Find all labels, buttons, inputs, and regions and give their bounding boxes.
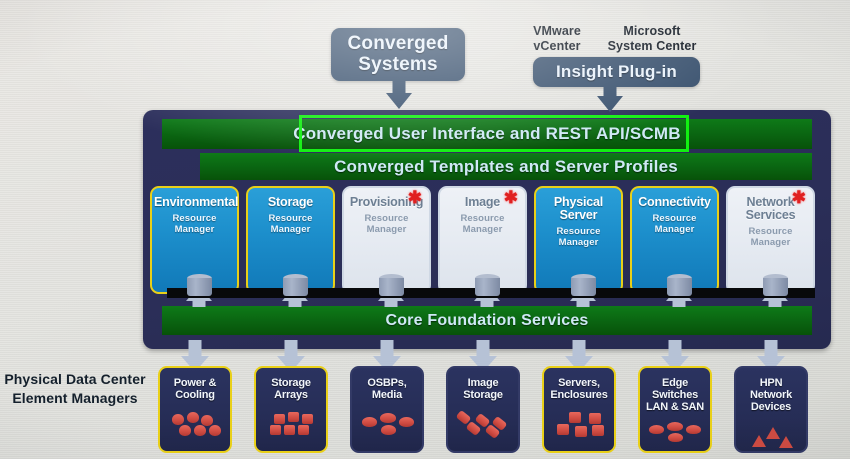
element-manager-storage-arrays[interactable]: Storage Arrays [254, 366, 328, 453]
rm-title-line2: Server [560, 208, 598, 222]
em-line1: Power & [174, 377, 217, 389]
em-title: Edge Switches LAN & SAN [640, 377, 710, 415]
bus-connector-icon [187, 274, 212, 296]
power-cooling-icon [160, 412, 230, 442]
rm-sub-line2: Manager [463, 224, 503, 235]
em-line2: Cooling [175, 389, 215, 401]
rm-subtitle: Resource Manager [536, 226, 621, 249]
arrow-stem [393, 78, 406, 94]
em-line2: Enclosures [550, 389, 607, 401]
converged-templates-bar[interactable]: Converged Templates and Server Profiles [200, 153, 812, 180]
element-manager-power-cooling[interactable]: Power & Cooling [158, 366, 232, 453]
rm-sub-line1: Resource [460, 213, 504, 224]
em-line3: Devices [751, 401, 791, 413]
bus-connector-icon [571, 274, 596, 296]
bus-connector-icon [667, 274, 692, 296]
asterisk-icon: ✱ [792, 189, 806, 206]
arrow-head [597, 96, 623, 112]
em-line2: Storage [463, 389, 503, 401]
rm-subtitle: Resource Manager [632, 213, 717, 236]
left-label-line2: Element Managers [12, 390, 137, 406]
bus-connector-icon [475, 274, 500, 296]
element-manager-servers-enclosures[interactable]: Servers, Enclosures [542, 366, 616, 453]
em-line1: Edge [662, 377, 688, 389]
em-line1: Servers, [558, 377, 600, 389]
left-label-line1: Physical Data Center [4, 371, 145, 387]
physical-data-center-element-managers-label: Physical Data Center Element Managers [4, 370, 146, 408]
em-title: Storage Arrays [256, 377, 326, 415]
rm-title-line2: Services [746, 208, 796, 222]
rm-subtitle: Resource Manager [152, 213, 237, 236]
em-line2: Media [372, 389, 402, 401]
em-title: Servers, Enclosures [544, 377, 614, 415]
em-title: OSBPs, Media [352, 377, 422, 415]
converged-user-interface-bar[interactable]: Converged User Interface and REST API/SC… [162, 119, 812, 149]
em-line2: Network [750, 389, 792, 401]
rm-sub-line2: Manager [655, 224, 695, 235]
core-foundation-services-bar[interactable]: Core Foundation Services [162, 306, 812, 335]
converged-management-panel: Converged User Interface and REST API/SC… [143, 110, 831, 349]
rm-title: Environmental [152, 196, 237, 209]
rm-sub-line1: Resource [748, 226, 792, 237]
microsoft-system-center-label: Microsoft System Center [596, 24, 708, 54]
rm-sub-line2: Manager [175, 224, 215, 235]
element-manager-hpn-network-devices[interactable]: HPN Network Devices [734, 366, 808, 453]
rm-subtitle: Resource Manager [440, 213, 525, 236]
rm-title: Physical Server [536, 196, 621, 222]
element-manager-image-storage[interactable]: Image Storage [446, 366, 520, 453]
em-line2: Arrays [274, 389, 308, 401]
em-line1: OSBPs, [367, 377, 406, 389]
em-line2: Switches [652, 389, 698, 401]
vmware-line1: VMware [533, 24, 581, 38]
element-manager-osbps-media[interactable]: OSBPs, Media [350, 366, 424, 453]
rm-sub-line1: Resource [364, 213, 408, 224]
storage-arrays-icon [256, 412, 326, 442]
rm-title: Connectivity [632, 196, 717, 209]
converged-systems-line2: Systems [358, 54, 438, 75]
em-title: HPN Network Devices [736, 377, 806, 415]
asterisk-icon: ✱ [504, 189, 518, 206]
asterisk-icon: ✱ [408, 189, 422, 206]
rm-sub-line1: Resource [652, 213, 696, 224]
insight-plugin-box[interactable]: Insight Plug-in [533, 57, 700, 87]
rm-sub-line1: Resource [172, 213, 216, 224]
rm-subtitle: Resource Manager [248, 213, 333, 236]
rm-sub-line2: Manager [367, 224, 407, 235]
rm-sub-line2: Manager [559, 237, 599, 248]
vmware-vcenter-label: VMware vCenter [515, 24, 599, 54]
vmware-line2: vCenter [533, 39, 580, 53]
em-line1: Storage [271, 377, 311, 389]
diagram-canvas: Converged Systems VMware vCenter Microso… [0, 0, 850, 459]
arrow-head [386, 93, 412, 109]
rm-subtitle: Resource Manager [344, 213, 429, 236]
rm-subtitle: Resource Manager [728, 226, 813, 249]
rm-sub-line1: Resource [268, 213, 312, 224]
bus-connector-icon [283, 274, 308, 296]
bus-connector-icon [763, 274, 788, 296]
microsoft-line2: System Center [608, 39, 697, 53]
converged-systems-line1: Converged [347, 33, 448, 54]
edge-switches-icon [640, 422, 710, 446]
hpn-network-devices-icon [736, 427, 806, 447]
servers-enclosures-icon [544, 412, 614, 442]
em-line1: Image [468, 377, 499, 389]
em-line1: HPN [760, 377, 783, 389]
element-manager-edge-switches[interactable]: Edge Switches LAN & SAN [638, 366, 712, 453]
insight-plugin-down-arrow-icon [597, 84, 623, 112]
converged-systems-box[interactable]: Converged Systems [331, 28, 465, 81]
em-title: Image Storage [448, 377, 518, 415]
rm-sub-line2: Manager [751, 237, 791, 248]
converged-systems-down-arrow-icon [386, 78, 412, 109]
rm-title: Storage [248, 196, 333, 209]
rm-sub-line1: Resource [556, 226, 600, 237]
microsoft-line1: Microsoft [623, 24, 680, 38]
osbps-media-icon [352, 412, 422, 442]
rm-sub-line2: Manager [271, 224, 311, 235]
em-line3: LAN & SAN [646, 401, 704, 413]
bus-connector-icon [379, 274, 404, 296]
image-storage-icon [448, 412, 518, 442]
em-title: Power & Cooling [160, 377, 230, 415]
